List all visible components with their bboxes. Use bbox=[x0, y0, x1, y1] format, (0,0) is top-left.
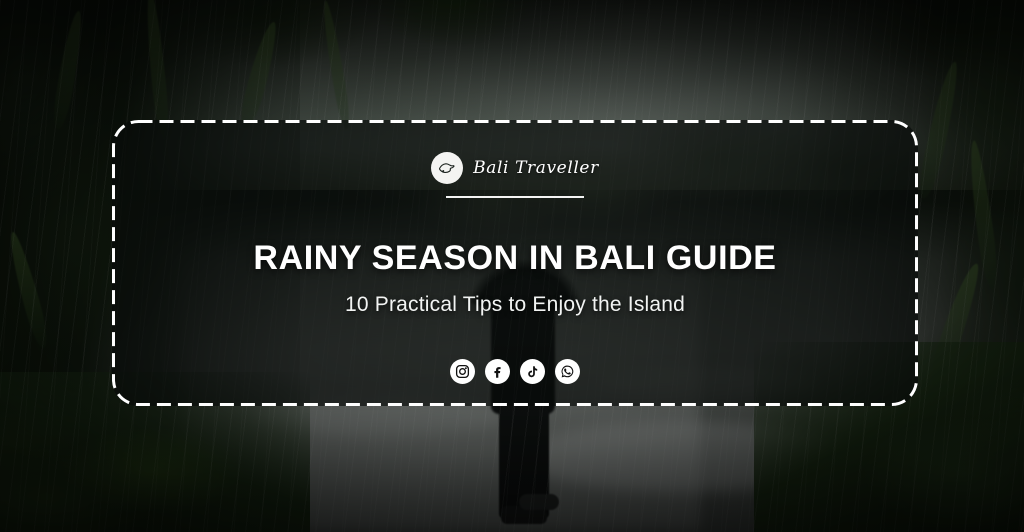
social-link-tiktok[interactable] bbox=[520, 359, 545, 384]
tiktok-icon bbox=[526, 365, 540, 379]
whatsapp-icon bbox=[560, 364, 575, 379]
logo-divider bbox=[446, 196, 584, 198]
rainy-season-bali-banner: Bali Traveller RAINY SEASON IN BALI GUID… bbox=[0, 0, 1024, 532]
page-title: RAINY SEASON IN BALI GUIDE bbox=[253, 240, 776, 277]
brand-logo[interactable]: Bali Traveller bbox=[431, 152, 599, 184]
bali-island-icon bbox=[431, 152, 463, 184]
social-link-facebook[interactable] bbox=[485, 359, 510, 384]
instagram-icon bbox=[455, 364, 470, 379]
social-link-instagram[interactable] bbox=[450, 359, 475, 384]
page-subtitle: 10 Practical Tips to Enjoy the Island bbox=[345, 293, 685, 317]
facebook-icon bbox=[490, 364, 505, 379]
social-link-whatsapp[interactable] bbox=[555, 359, 580, 384]
person-shoe bbox=[519, 494, 559, 510]
brand-name: Bali Traveller bbox=[473, 158, 599, 178]
social-links bbox=[450, 359, 580, 384]
content-card: Bali Traveller RAINY SEASON IN BALI GUID… bbox=[112, 120, 918, 406]
